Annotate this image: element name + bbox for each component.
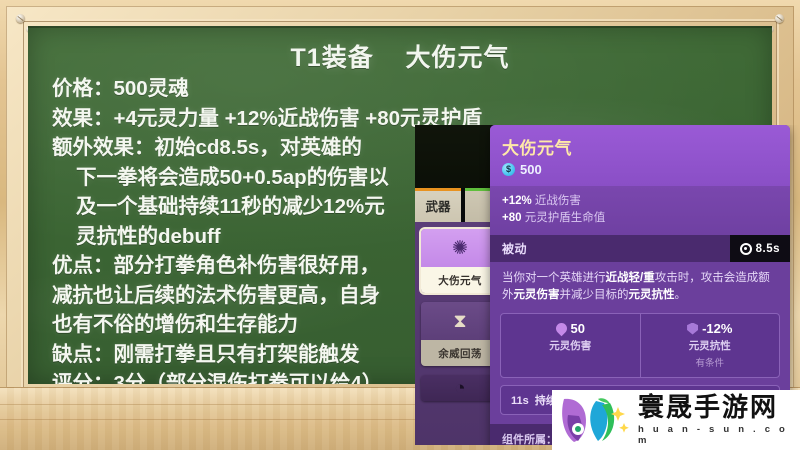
passive-highlight: 元灵伤害 bbox=[514, 289, 560, 301]
stat-box-damage-top: 50 bbox=[505, 321, 636, 336]
fist-burst-glyph: ✺ bbox=[452, 239, 468, 258]
watermark-domain: h u a n - s u n . c o m bbox=[638, 424, 800, 446]
cooldown-value: 8.5s bbox=[756, 243, 780, 255]
item-price-value: 500 bbox=[520, 162, 542, 177]
list-item-partial[interactable]: ◔ bbox=[421, 375, 499, 401]
item-stat-value: +12% bbox=[502, 195, 532, 207]
cooldown-ring-icon bbox=[740, 243, 752, 255]
item-stat-value: +80 bbox=[502, 212, 522, 224]
stat-box-row: 50 元灵伤害 -12% 元灵抗性 有条件 bbox=[500, 313, 780, 378]
tab-accent-bar bbox=[415, 188, 461, 191]
blackboard-line: 价格：500灵魂 bbox=[52, 74, 772, 104]
passive-highlight: 近战轻/重 bbox=[606, 272, 655, 284]
tab-weapons-label: 武器 bbox=[425, 196, 450, 215]
item-stat-line: +12% 近战伤害 bbox=[502, 193, 778, 210]
list-item-label: 余威回荡 bbox=[421, 340, 499, 366]
damage-drop-icon bbox=[553, 321, 569, 337]
passive-label: 被动 bbox=[502, 242, 527, 256]
stat-box-resist-label: 元灵抗性 bbox=[645, 338, 776, 353]
item-price: $ 500 bbox=[502, 162, 778, 177]
passive-text-run: 并减少目标的 bbox=[560, 289, 629, 301]
frame-screw-top-left bbox=[16, 14, 25, 23]
fist-burst-icon: ✺ bbox=[421, 229, 499, 267]
item-name: 大伤元气 bbox=[502, 134, 778, 159]
frame-screw-top-right bbox=[775, 14, 784, 23]
stat-box-damage-value: 50 bbox=[571, 321, 585, 336]
site-watermark: 寰晟手游网 h u a n - s u n . c o m bbox=[552, 390, 800, 450]
cooldown-badge: 8.5s bbox=[730, 235, 790, 262]
stat-box-resist: -12% 元灵抗性 有条件 bbox=[640, 314, 780, 377]
resist-shield-icon bbox=[687, 323, 698, 335]
soul-coin-icon: $ bbox=[502, 163, 515, 176]
item-stat-lines: +12% 近战伤害+80 元灵护盾生命值 bbox=[490, 186, 790, 235]
list-item-label: 大伤元气 bbox=[421, 267, 499, 293]
watermark-text: 寰晟手游网 h u a n - s u n . c o m bbox=[638, 394, 800, 445]
watermark-site-name: 寰晟手游网 bbox=[638, 394, 800, 421]
tab-separator bbox=[461, 188, 465, 222]
peacock-logo-icon bbox=[558, 395, 632, 445]
stat-box-resist-top: -12% bbox=[645, 321, 776, 336]
passive-text-run: 当你对一个英雄进行 bbox=[502, 272, 606, 284]
card-header: 大伤元气 $ 500 bbox=[490, 125, 790, 186]
hourglass-icon: ⧗ bbox=[421, 302, 499, 340]
duration-value: 11s bbox=[511, 395, 529, 407]
spiked-shell-glyph: ◔ bbox=[454, 379, 465, 398]
list-item-selected[interactable]: ✺ 大伤元气 bbox=[421, 229, 499, 293]
tab-weapons[interactable]: 武器 bbox=[415, 188, 461, 222]
component-label: 组件所属： bbox=[502, 434, 557, 445]
item-stat-line: +80 元灵护盾生命值 bbox=[502, 210, 778, 227]
item-stat-label: 元灵护盾生命值 bbox=[522, 212, 606, 224]
stat-box-resist-condition: 有条件 bbox=[645, 355, 776, 369]
item-stat-label: 近战伤害 bbox=[532, 195, 581, 207]
stat-box-damage-label: 元灵伤害 bbox=[505, 338, 636, 353]
passive-description: 当你对一个英雄进行近战轻/重攻击时，攻击会造成额外元灵伤害并减少目标的元灵抗性。 bbox=[490, 262, 790, 313]
passive-section-header: 被动 8.5s bbox=[490, 235, 790, 262]
passive-text-run: 。 bbox=[675, 289, 687, 301]
stat-box-damage: 50 元灵伤害 bbox=[501, 314, 640, 377]
page-title: T1装备 大伤元气 bbox=[28, 38, 772, 74]
stat-box-resist-value: -12% bbox=[702, 321, 732, 336]
spiked-shell-icon: ◔ bbox=[421, 375, 499, 401]
passive-highlight: 元灵抗性 bbox=[629, 289, 675, 301]
screenshot-root: T1装备 大伤元气 价格：500灵魂效果：+4元灵力量 +12%近战伤害 +80… bbox=[0, 0, 800, 450]
hourglass-glyph: ⧗ bbox=[453, 312, 466, 331]
list-item[interactable]: ⧗ 余威回荡 bbox=[421, 302, 499, 366]
